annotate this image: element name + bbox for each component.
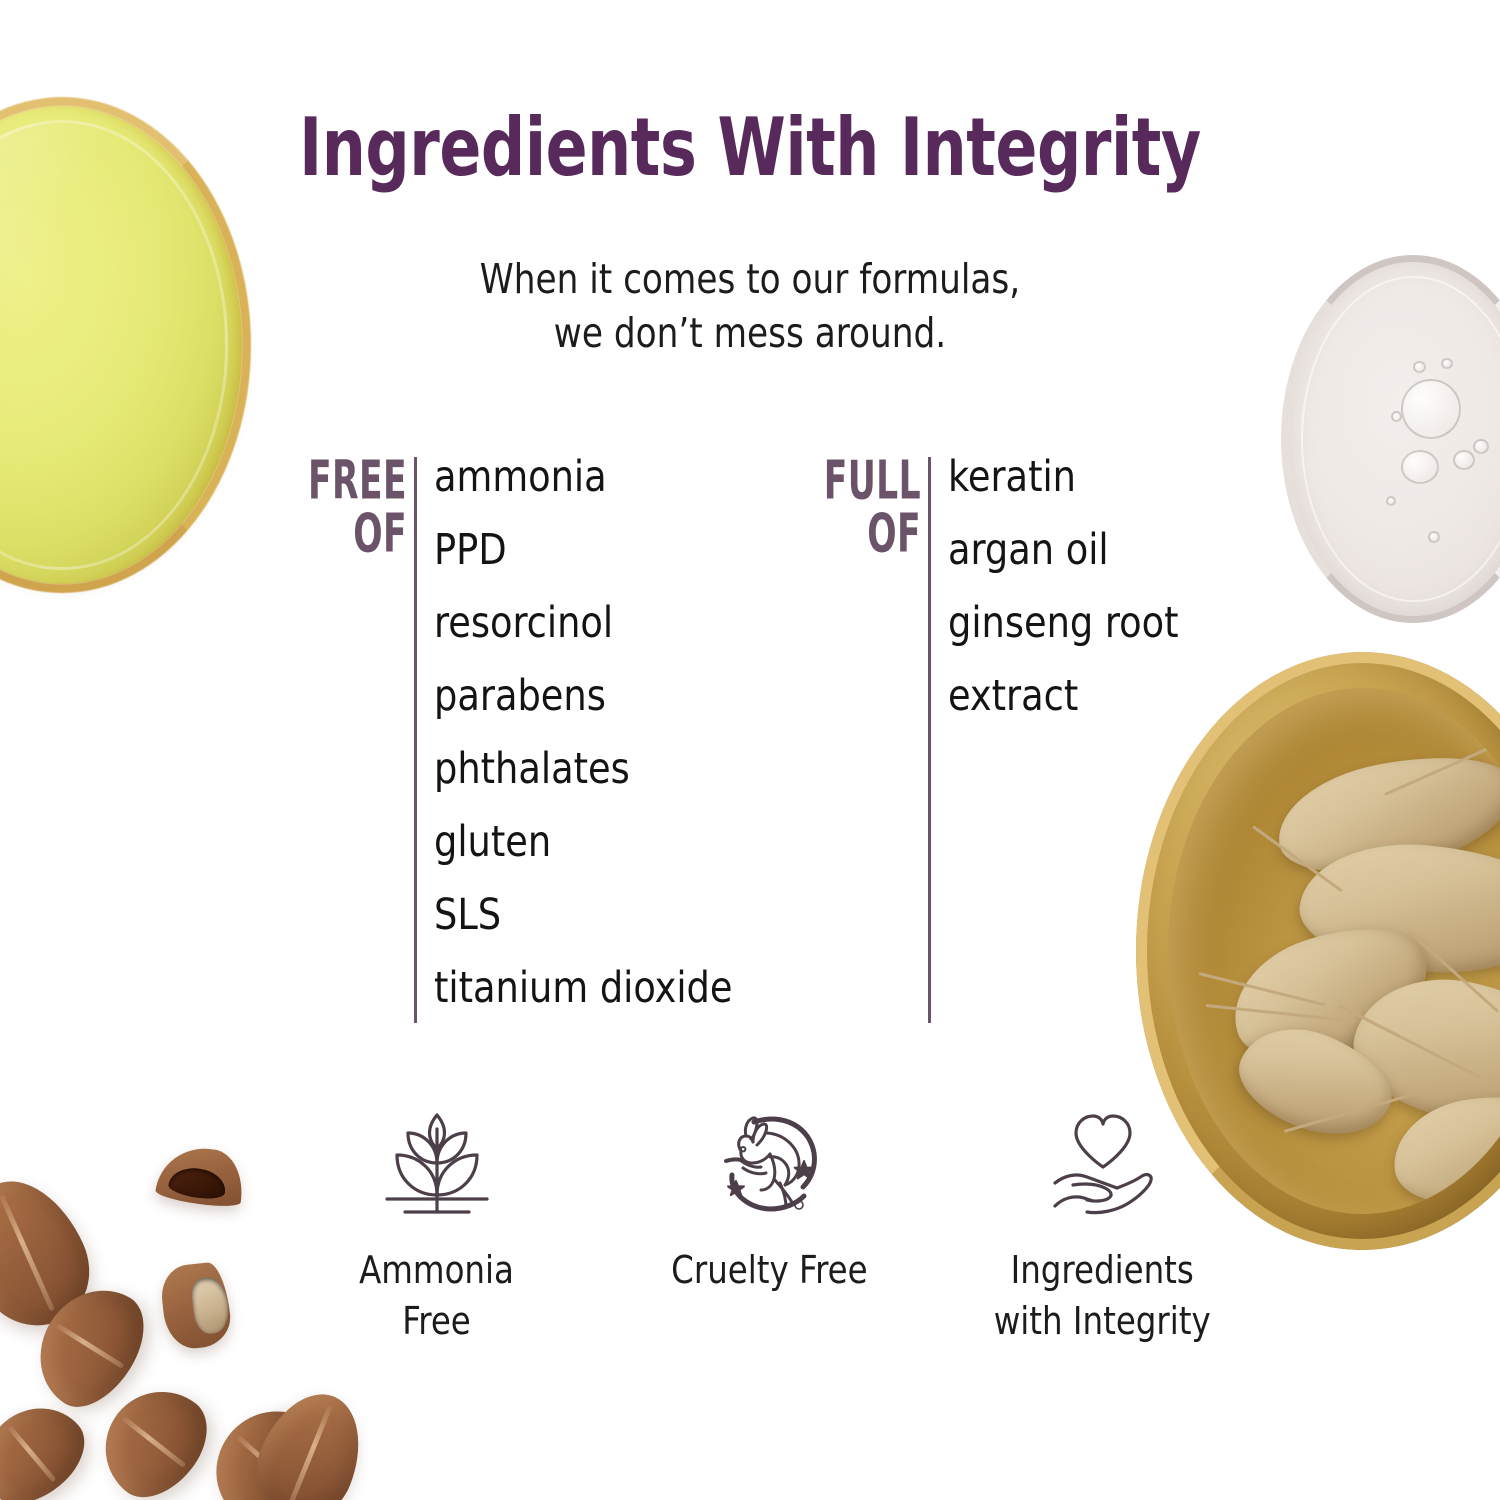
- list-item: gluten: [434, 806, 733, 879]
- nut-seam: [288, 1405, 333, 1500]
- badge-ingredients-integrity-label: Ingredients with Integrity: [994, 1245, 1211, 1346]
- list-item: extract: [948, 660, 1178, 733]
- free-of-list: ammonia PPD resorcinol parabens phthalat…: [434, 441, 748, 1025]
- full-of-label: FULL OF: [822, 455, 921, 560]
- subtitle-line-2: we don’t mess around.: [53, 306, 1448, 360]
- list-item: keratin: [948, 441, 1178, 514]
- gel-bubble: [1401, 379, 1461, 439]
- subtitle-line-1: When it comes to our formulas,: [53, 252, 1448, 306]
- gel-bubble: [1391, 411, 1402, 422]
- infographic-canvas: Ingredients With Integrity When it comes…: [0, 0, 1500, 1500]
- badge-cruelty-free-label: Cruelty Free: [671, 1245, 867, 1296]
- badge-ammonia-free: Ammonia Free: [270, 1105, 603, 1346]
- badge-cruelty-free: Cruelty Free: [603, 1105, 936, 1346]
- sprout-plant-icon: [377, 1105, 497, 1227]
- nut-seam: [0, 1194, 55, 1311]
- shell-cavity: [167, 1165, 227, 1202]
- badge-label-line-1: Ingredients: [994, 1245, 1211, 1296]
- full-of-list: keratin argan oil ginseng root extract: [948, 441, 1191, 733]
- free-of-label-line-2: OF: [308, 508, 407, 561]
- nut-seam: [7, 1425, 56, 1482]
- full-of-divider: [928, 457, 931, 1023]
- gel-bubble: [1386, 496, 1396, 506]
- list-item: SLS: [434, 879, 733, 952]
- cracked-argan-shell: [155, 1142, 248, 1209]
- badge-ammonia-free-label: Ammonia Free: [359, 1245, 514, 1346]
- list-item: titanium dioxide: [434, 952, 733, 1025]
- certification-badges: Ammonia Free: [270, 1105, 1270, 1346]
- badge-label-line-2: with Integrity: [994, 1296, 1211, 1347]
- nut-seam: [56, 1323, 124, 1368]
- free-of-label: FREE OF: [308, 455, 407, 560]
- badge-label-line-1: Ammonia: [359, 1245, 514, 1296]
- gel-bubble: [1473, 439, 1489, 454]
- badge-label-line-1: Cruelty Free: [671, 1245, 867, 1296]
- badge-label-line-2: Free: [359, 1296, 514, 1347]
- hand-heart-icon: [1043, 1105, 1163, 1227]
- shell-cavity: [191, 1276, 231, 1335]
- badge-ingredients-integrity: Ingredients with Integrity: [936, 1105, 1269, 1346]
- list-item: phthalates: [434, 733, 733, 806]
- list-item: resorcinol: [434, 587, 733, 660]
- full-of-label-line-1: FULL: [822, 455, 921, 508]
- gel-bubble: [1401, 450, 1439, 484]
- list-item: PPD: [434, 514, 733, 587]
- gel-bubble: [1413, 361, 1426, 373]
- leaping-bunny-icon: [710, 1105, 830, 1227]
- gel-bubble: [1428, 531, 1440, 543]
- cracked-argan-shell: [159, 1261, 233, 1351]
- ginseng-root: [1387, 1086, 1500, 1214]
- full-of-label-line-2: OF: [822, 508, 921, 561]
- page-title: Ingredients With Integrity: [105, 108, 1395, 188]
- list-item: ammonia: [434, 441, 733, 514]
- free-of-label-line-1: FREE: [308, 455, 407, 508]
- nut-seam: [122, 1416, 186, 1468]
- list-item: parabens: [434, 660, 733, 733]
- gel-bubble: [1453, 450, 1475, 470]
- free-of-divider: [414, 457, 417, 1023]
- page-subtitle: When it comes to our formulas, we don’t …: [53, 252, 1448, 360]
- list-item: argan oil: [948, 514, 1178, 587]
- list-item: ginseng root: [948, 587, 1178, 660]
